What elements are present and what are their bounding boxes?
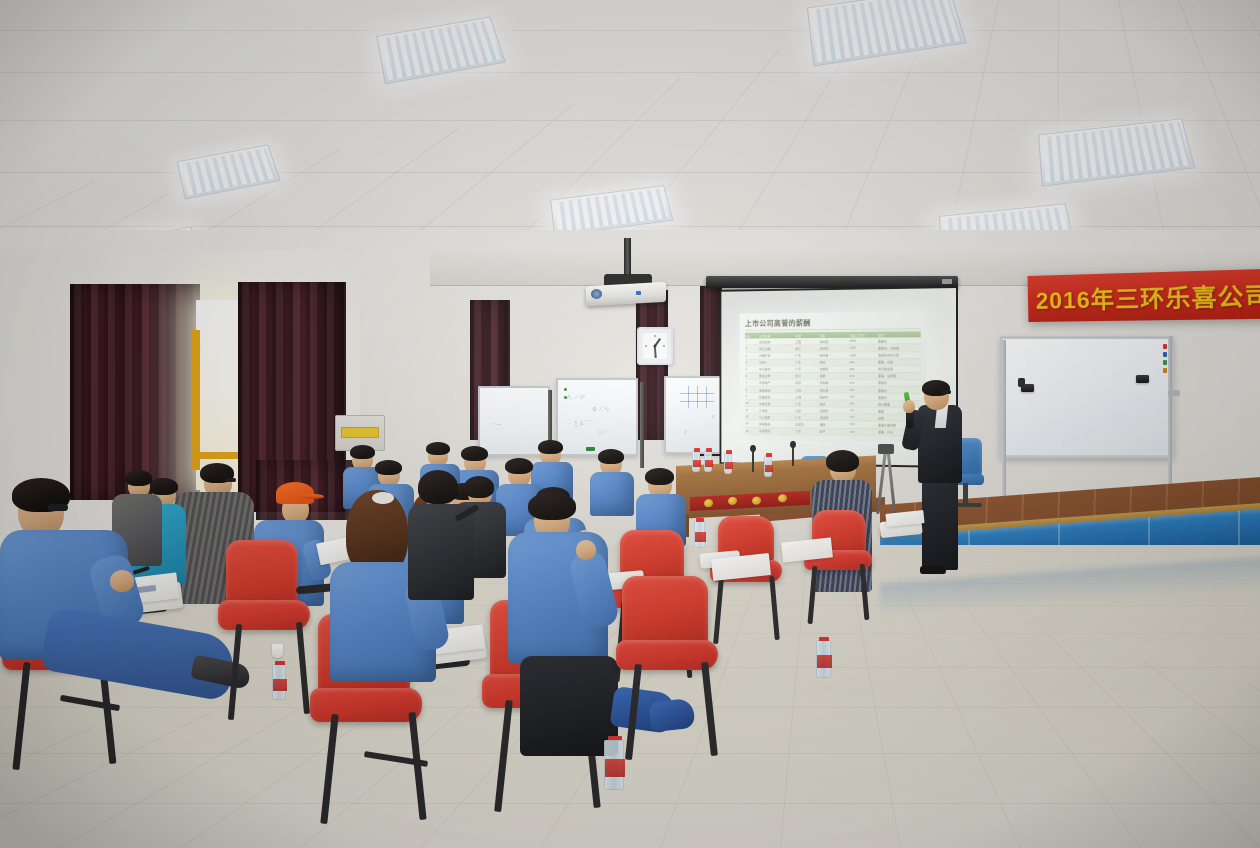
water-bottle [692,450,700,472]
window-frame [192,330,200,470]
attendee-hair [528,492,576,520]
slide-table-cell: 广东 [795,359,819,366]
slide-table-cell: 中兴通讯 [759,366,795,373]
attendee-hair [505,458,533,474]
attendee-hair [125,470,152,486]
tripod-head [878,444,894,454]
water-bottle [704,450,712,472]
table-microphone [792,446,794,466]
presenter-legs [922,478,958,570]
ceiling-light-panel [177,144,281,199]
water-bottle-floor [272,664,286,700]
table-microphone [752,450,754,472]
slide-table-cell: 邵平 [819,428,849,435]
slide-table-cell: 孙秋艳 [819,379,849,386]
window-curtain-left [70,284,200,500]
slide-table-cell: 885 [849,365,877,372]
attendee-shoe [649,698,696,732]
attendee-torso [408,504,474,600]
attendee-hand [576,540,596,560]
projector-indicator-led [636,291,641,295]
slide-table-cell: 广东 [795,365,819,372]
slide-data-table: 排名公司名称地域姓名年薪（万元）职位 1京天地电江西林志武2059董事长2浙江龙… [745,331,921,436]
chair-seat [310,688,422,722]
slide-table-cell: 4 [745,359,759,366]
magnet-blue-icon [1163,352,1167,357]
attendee-hair [645,468,674,485]
mobile-whiteboard [1000,336,1174,458]
slide-table-cell: 5 [745,366,759,373]
slide-table-cell: 712 [849,428,877,435]
presenter-shoe [920,566,946,574]
water-bottle [724,452,732,474]
attendee-hair [598,449,624,464]
slide-table-cell: 898 [849,358,877,365]
whiteboard-stand-post [640,382,644,468]
banner-text: 2016年三环乐喜公司员 [1035,275,1260,316]
presentation-slide: 上市公司高管的薪酬 排名公司名称地域姓名年薪（万元）职位 1京天地电江西林志武2… [739,311,926,442]
whiteboard-pivot-knob [1168,390,1180,396]
wall-clock-icon [637,327,673,365]
slide-table-cell: 8 [745,386,759,393]
slide-table-row: 14平安银行广东邵平712董事、行长 [745,427,921,436]
attendee-hair [375,460,402,475]
slide-table-cell: 张振辉 [819,365,849,372]
slide-table-cell: 金鹏 [819,372,849,379]
chair-back [622,576,708,650]
water-bottle-floor [604,740,624,790]
magnet-orange-icon [1163,368,1167,373]
water-bottle-floor [694,520,705,548]
attendee-hand [110,570,134,592]
projector-lens-icon [591,289,602,299]
attendee-hair [426,442,450,455]
slide-table-cell: 平安银行 [759,427,795,434]
slide-table-body: 1京天地电江西林志武2059董事长2浙江龙盛浙江金伟阳1883董事长、总经理3中… [745,338,921,436]
slide-table-cell: 14 [745,427,759,434]
slide-table-cell: 四川 [795,372,819,379]
ceiling-light-panel [1038,118,1195,186]
magnet-green-icon [1163,360,1167,365]
glasses-icon [48,504,68,511]
water-bottle-floor [816,640,831,678]
whiteboard-marker-tray [1005,455,1170,460]
attendee-hair [464,476,494,498]
window-daylight [196,300,240,490]
whiteboard-center: ℎ₁ ⟋ ∂² ⊕ ⟋ ∿ ∑ ∆ ⌒ □ ⟋ [556,378,638,456]
whiteboard-eraser-right [1136,375,1149,383]
slide-table-cell: 6 [745,372,759,379]
ceiling-light-panel [550,185,673,236]
slide-table-cell: 7 [745,379,759,386]
attendee-hair [350,445,375,459]
whiteboard-right: ε ℓ [664,376,728,454]
attendee-hair [538,440,563,454]
cap-brim [302,494,324,499]
slide-table-cell: 国金证券 [759,372,795,379]
attendee-hair [826,450,859,472]
slide-table-cell: 北京 [795,379,819,386]
attendee-hair [148,478,178,495]
slide-title: 上市公司高管的薪酬 [745,317,921,331]
hair-tie-icon [372,492,394,504]
water-bottle [764,455,772,477]
slide-table-cell: 执行副总裁 [878,365,921,372]
window-sill [196,452,240,459]
wall-sensor-icon [1018,378,1025,387]
slide-table-cell: 董事长 [878,379,921,386]
photo-scene: ~ ─ ℎ₁ ⟋ ∂² ⊕ ⟋ ∿ ∑ ∆ ⌒ □ ⟋ ε ℓ 上市公司高管的薪… [0,0,1260,848]
attendee-torso [590,472,634,516]
magnet-red-icon [1163,344,1167,349]
slide-table-cell: 872 [849,379,877,386]
presenter-hand [903,400,915,413]
orange-cap [276,482,314,504]
presenter-glasses-icon [942,390,951,394]
ceiling-light-panel [807,0,967,67]
event-banner: 2016年三环乐喜公司员 [1028,269,1260,322]
panel-warning-label [341,427,379,438]
attendee-hair [461,446,488,461]
paper-cup [272,644,283,658]
attendee-hair [418,470,458,504]
slide-table-cell: 广东 [795,428,819,435]
slide-table-cell: 872 [849,372,877,379]
office-chair-post [963,483,968,505]
slide-table-cell: 董事、总经理 [878,372,921,379]
whiteboard-frame-left [1002,340,1006,518]
slide-table-row: 6国金证券四川金鹏872董事、总经理 [745,372,921,379]
ceiling-light-panel [376,17,505,85]
glasses-icon [226,478,236,482]
